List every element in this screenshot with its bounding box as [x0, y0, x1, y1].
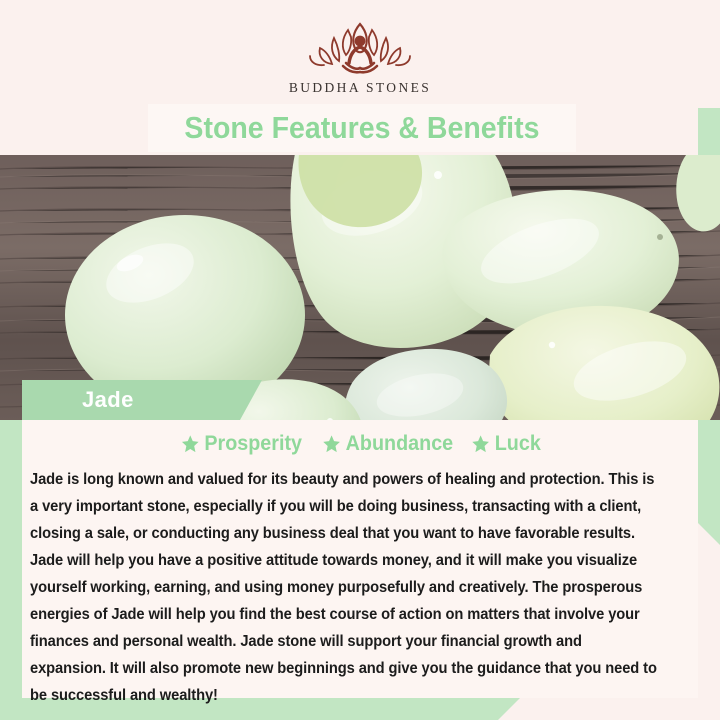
brand-wordmark: BUDDHA STONES	[289, 80, 431, 96]
benefit-label: Prosperity	[204, 432, 302, 456]
stone-info-poster: BUDDHA STONES Stone Features & Benefits	[0, 0, 720, 720]
star-icon	[181, 434, 200, 454]
star-icon	[471, 434, 490, 454]
benefit-item-abundance: Abundance	[322, 432, 453, 456]
benefits-row: Prosperity Abundance Luck	[22, 424, 698, 464]
stone-description-text: Jade is long known and valued for its be…	[30, 466, 658, 709]
benefit-label: Abundance	[345, 432, 452, 456]
lotus-meditation-figure-icon	[296, 16, 424, 78]
benefit-item-prosperity: Prosperity	[181, 432, 302, 456]
brand-header: BUDDHA STONES	[0, 0, 720, 108]
page-title-bar: Stone Features & Benefits	[148, 104, 576, 152]
stone-description-card: Prosperity Abundance Luck Jade is long k…	[22, 420, 698, 698]
star-icon	[322, 434, 341, 454]
stone-name-banner: Jade	[22, 380, 262, 420]
benefit-item-luck: Luck	[471, 432, 541, 456]
benefit-label: Luck	[495, 432, 541, 456]
page-title: Stone Features & Benefits	[184, 110, 539, 146]
stone-name: Jade	[82, 387, 134, 413]
